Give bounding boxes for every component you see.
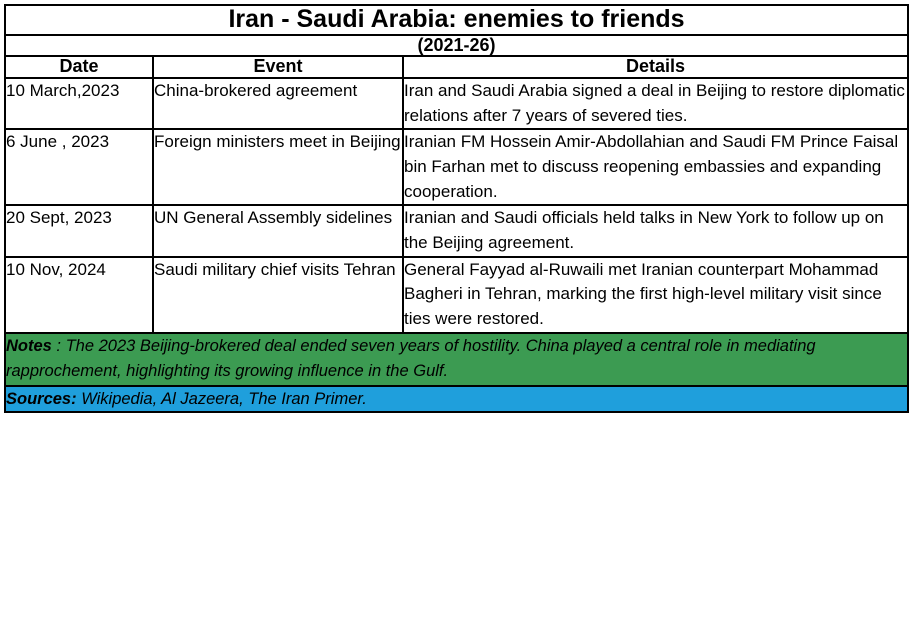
table-row: 6 June , 2023 Foreign ministers meet in … (5, 129, 908, 205)
document-subtitle: (2021-26) (5, 35, 908, 57)
notes-text: : The 2023 Beijing-brokered deal ended s… (6, 337, 816, 381)
notes-cell: Notes : The 2023 Beijing-brokered deal e… (5, 333, 908, 386)
row-date: 6 June , 2023 (5, 129, 153, 205)
subtitle-row: (2021-26) (5, 35, 908, 57)
column-header-details: Details (403, 56, 908, 78)
table-row: 10 March,2023 China-brokered agreement I… (5, 78, 908, 129)
row-date: 20 Sept, 2023 (5, 205, 153, 256)
row-date: 10 March,2023 (5, 78, 153, 129)
row-event: UN General Assembly sidelines (153, 205, 403, 256)
sources-row: Sources: Wikipedia, Al Jazeera, The Iran… (5, 386, 908, 413)
title-row: Iran - Saudi Arabia: enemies to friends (5, 5, 908, 35)
row-event: Saudi military chief visits Tehran (153, 257, 403, 333)
sources-text: Wikipedia, Al Jazeera, The Iran Primer. (77, 390, 367, 408)
document-page: Iran - Saudi Arabia: enemies to friends … (0, 0, 911, 631)
table-row: 20 Sept, 2023 UN General Assembly sideli… (5, 205, 908, 256)
row-details: General Fayyad al-Ruwaili met Iranian co… (403, 257, 908, 333)
row-date: 10 Nov, 2024 (5, 257, 153, 333)
sources-label: Sources: (6, 390, 77, 408)
document-title: Iran - Saudi Arabia: enemies to friends (5, 5, 908, 35)
row-event: China-brokered agreement (153, 78, 403, 129)
column-header-event: Event (153, 56, 403, 78)
header-row: Date Event Details (5, 56, 908, 78)
notes-row: Notes : The 2023 Beijing-brokered deal e… (5, 333, 908, 386)
notes-label: Notes (6, 337, 52, 355)
row-details: Iranian and Saudi officials held talks i… (403, 205, 908, 256)
row-details: Iran and Saudi Arabia signed a deal in B… (403, 78, 908, 129)
sources-cell: Sources: Wikipedia, Al Jazeera, The Iran… (5, 386, 908, 413)
row-event: Foreign ministers meet in Beijing (153, 129, 403, 205)
column-header-date: Date (5, 56, 153, 78)
timeline-table: Iran - Saudi Arabia: enemies to friends … (4, 4, 909, 413)
table-row: 10 Nov, 2024 Saudi military chief visits… (5, 257, 908, 333)
row-details: Iranian FM Hossein Amir-Abdollahian and … (403, 129, 908, 205)
